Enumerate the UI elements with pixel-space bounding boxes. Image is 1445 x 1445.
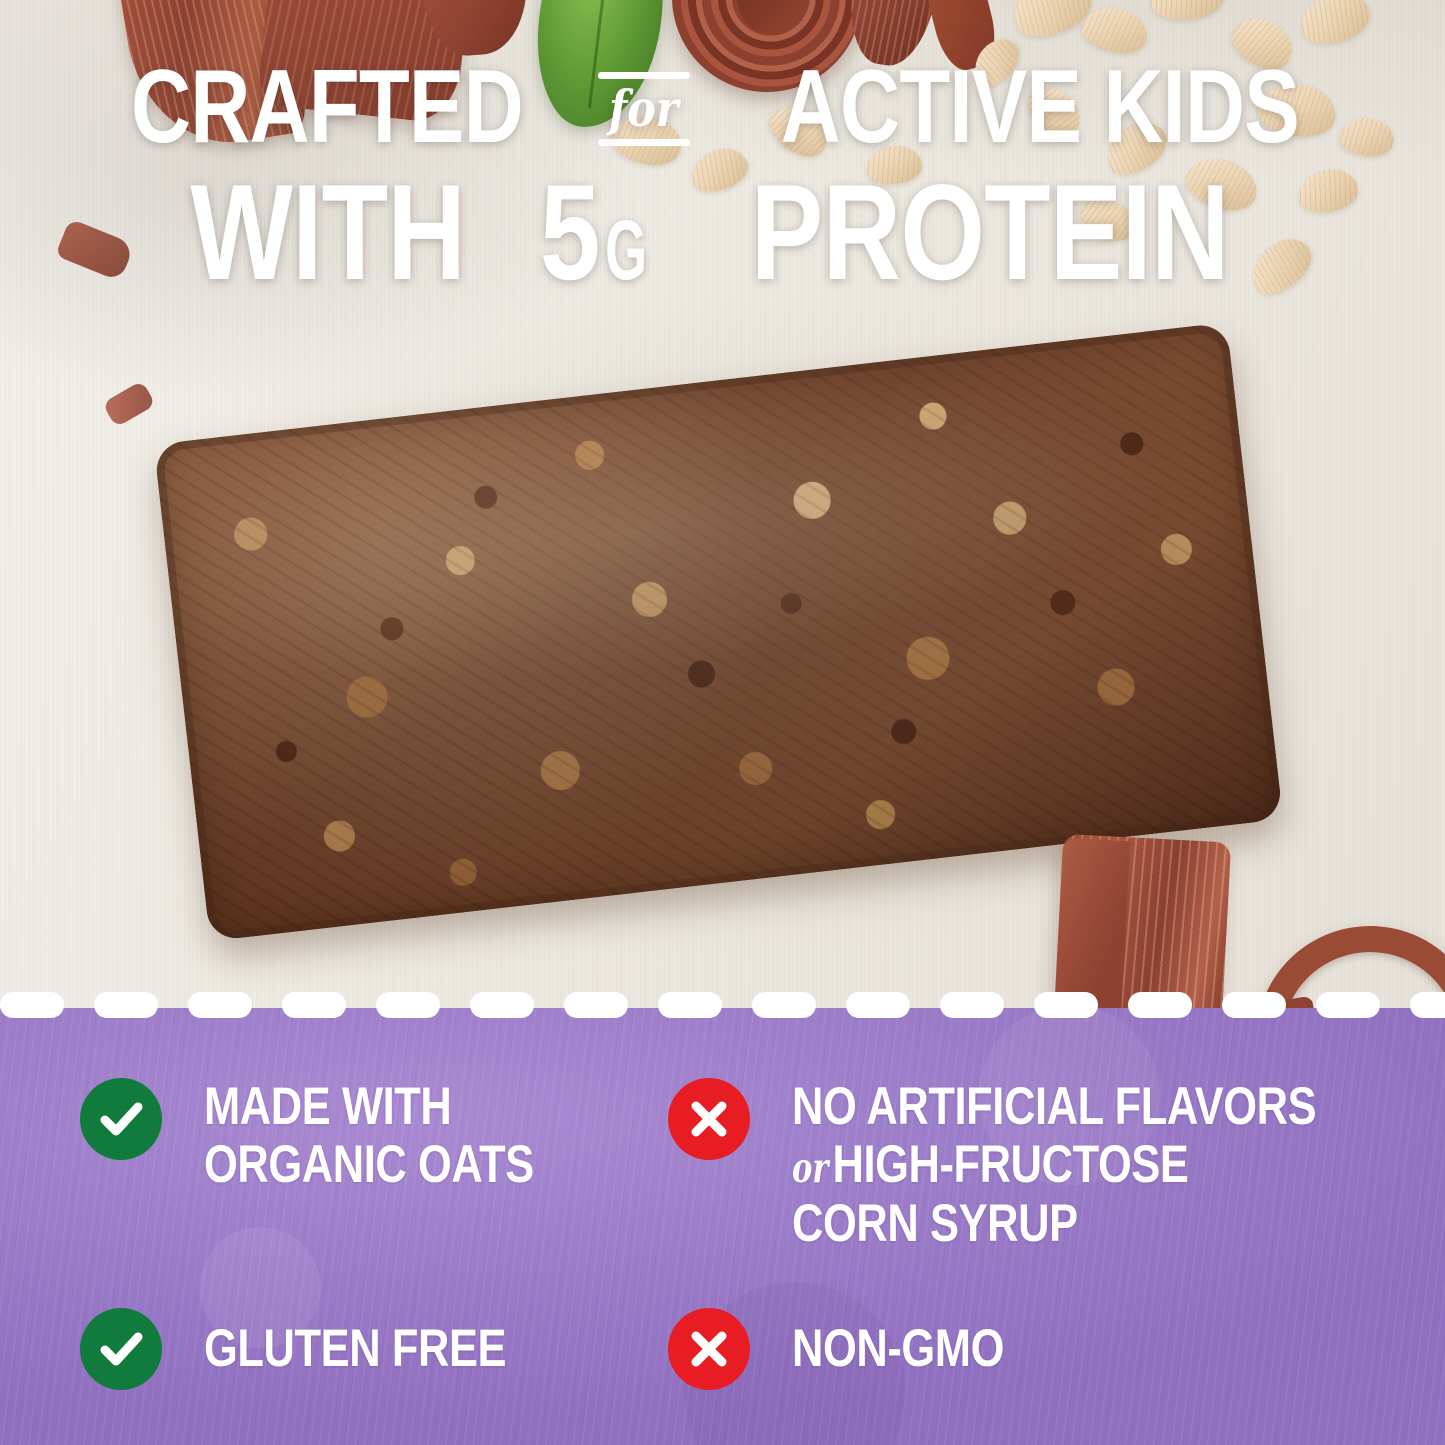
claim-line: NON-GMO [792,1320,1004,1378]
script-or-word: or [792,1143,828,1192]
claim-text: MADE WITH ORGANIC OATS [204,1078,606,1195]
claim-text: NO ARTIFICIAL FLAVORS orHIGH-FRUCTOSE CO… [792,1078,1431,1253]
claims-list: MADE WITH ORGANIC OATS NO ARTIFICIAL FLA… [0,0,1445,1445]
claim-non-gmo: NON-GMO [668,1308,1051,1390]
claim-line: NO ARTIFICIAL FLAVORS [792,1078,1316,1136]
dashed-divider [0,990,1445,1020]
claim-line: CORN SYRUP [792,1195,1316,1253]
claim-line: ORGANIC OATS [204,1136,534,1194]
claim-line: MADE WITH [204,1078,534,1136]
check-circle-icon [80,1078,162,1160]
claim-made-with-organic-oats: MADE WITH ORGANIC OATS [80,1078,606,1195]
claim-line: GLUTEN FREE [204,1320,506,1378]
claim-line-text: HIGH-FRUCTOSE [832,1135,1188,1194]
claim-text: GLUTEN FREE [204,1320,572,1378]
claim-text: NON-GMO [792,1320,1051,1378]
x-circle-icon [668,1308,750,1390]
x-circle-icon [668,1078,750,1160]
claim-no-artificial-flavors: NO ARTIFICIAL FLAVORS orHIGH-FRUCTOSE CO… [668,1078,1431,1253]
claim-gluten-free: GLUTEN FREE [80,1308,572,1390]
claim-line-with-script: orHIGH-FRUCTOSE [792,1136,1316,1194]
check-circle-icon [80,1308,162,1390]
product-marketing-poster: CRAFTED for ACTIVE KIDS WITH 5G PROTEIN [0,0,1445,1445]
